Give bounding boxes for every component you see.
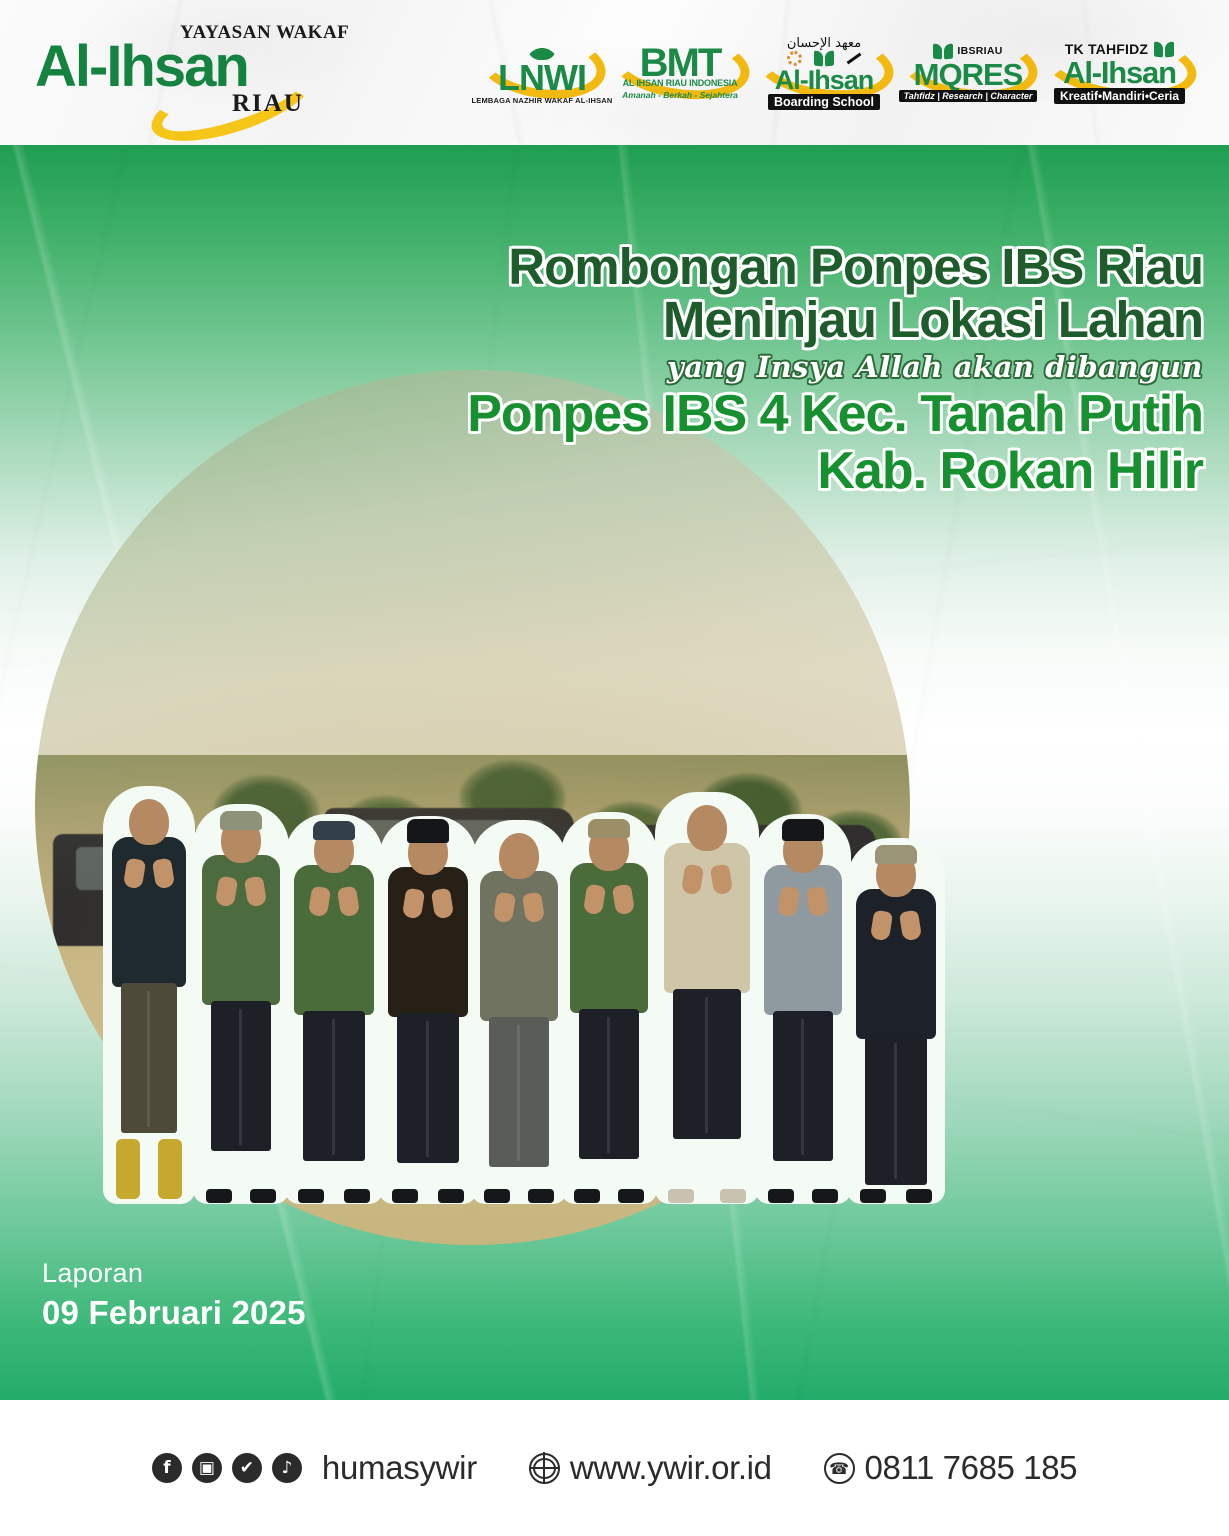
tiktok-icon[interactable]: ♪ [272,1453,302,1483]
open-book-icon [814,51,834,66]
mqres-top-label: IBSRIAU [957,45,1002,57]
person-cutout [664,801,750,1195]
subtitle-line-2: Kab. Rokan Hilir [273,443,1203,500]
logo-bmt: BMT AL IHSAN RIAU INDONESIA Amanah - Ber… [610,10,750,135]
header-logo-bar: YAYASAN WAKAF Al-Ihsan RIAU LNWI LEMBAGA… [0,0,1229,145]
foreground-people-group [112,795,942,1195]
title-block: Rombongan Ponpes IBS Riau Meninjau Lokas… [273,240,1203,500]
subtitle-line-1: Ponpes IBS 4 Kec. Tanah Putih [273,386,1203,443]
logo-al-ihsan-boarding-school: معهد الإحسان Al-Ihsan Boarding School [754,10,894,135]
partner-logos: LNWI LEMBAGA NAZHIR WAKAF AL-IHSAN BMT A… [478,10,1223,135]
phone-icon: ☎ [824,1453,855,1484]
report-label: Laporan [42,1258,306,1289]
script-subtitle: yang Insya Allah akan dibangun [273,350,1203,384]
logo-al-ihsan-riau: YAYASAN WAKAF Al-Ihsan RIAU [30,16,330,126]
person-cutout [202,813,280,1195]
website-url[interactable]: www.ywir.or.id [570,1449,772,1487]
instagram-icon[interactable]: ▣ [192,1453,222,1483]
arabic-name: معهد الإحسان [787,36,861,51]
person-cutout [388,825,468,1195]
social-group: f ▣ ✔ ♪ humasywir [152,1449,477,1487]
logo-mqres: IBSRIAU MQRES Tahfidz | Research | Chara… [898,10,1038,135]
phone-number[interactable]: 0811 7685 185 [865,1449,1078,1487]
logo-tk-tahfidz-al-ihsan: TK TAHFIDZ Al-Ihsan Kreatif•Mandiri•Ceri… [1042,10,1197,135]
abs-bar-label: Boarding School [768,94,880,110]
bmt-name: BMT [640,45,721,81]
mqres-bar-label: Tahfidz | Research | Character [899,90,1038,102]
tk-name: Al-Ihsan [1063,57,1176,88]
logo-lnwi: LNWI LEMBAGA NAZHIR WAKAF AL-IHSAN [478,10,606,135]
report-date: 09 Februari 2025 [42,1294,306,1332]
person-cutout [294,823,374,1195]
website-group[interactable]: www.ywir.or.id [529,1449,772,1487]
person-cutout [480,829,558,1195]
title-line-1: Rombongan Ponpes IBS Riau [273,240,1203,293]
lnwi-subtitle: LEMBAGA NAZHIR WAKAF AL-IHSAN [471,96,612,105]
logo-name: Al-Ihsan [35,38,248,96]
globe-icon [529,1453,560,1484]
person-cutout [764,823,842,1195]
bmt-subtitle: AL IHSAN RIAU INDONESIA [623,78,738,88]
person-cutout [856,847,936,1195]
phone-group[interactable]: ☎ 0811 7685 185 [824,1449,1078,1487]
footer-contact-bar: f ▣ ✔ ♪ humasywir www.ywir.or.id ☎ 0811 … [0,1400,1229,1536]
mqres-name: MQRES [914,59,1023,90]
social-icons: f ▣ ✔ ♪ [152,1453,302,1483]
pen-icon [846,53,861,65]
gear-icon [787,51,802,66]
poster-canvas: YAYASAN WAKAF Al-Ihsan RIAU LNWI LEMBAGA… [0,0,1229,1536]
abs-name: Al-Ihsan [775,67,874,94]
facebook-icon[interactable]: f [152,1453,182,1483]
social-handle: humasywir [322,1449,477,1487]
person-cutout [570,821,648,1195]
tk-bar-label: Kreatif•Mandiri•Ceria [1054,88,1185,104]
twitter-icon[interactable]: ✔ [232,1453,262,1483]
logo-region: RIAU [232,90,304,118]
report-block: Laporan 09 Februari 2025 [42,1258,306,1332]
title-line-2: Meninjau Lokasi Lahan [273,293,1203,346]
lnwi-name: LNWI [498,61,586,95]
bmt-tagline: Amanah - Berkah - Sejahtera [622,90,738,100]
person-cutout [112,795,186,1195]
